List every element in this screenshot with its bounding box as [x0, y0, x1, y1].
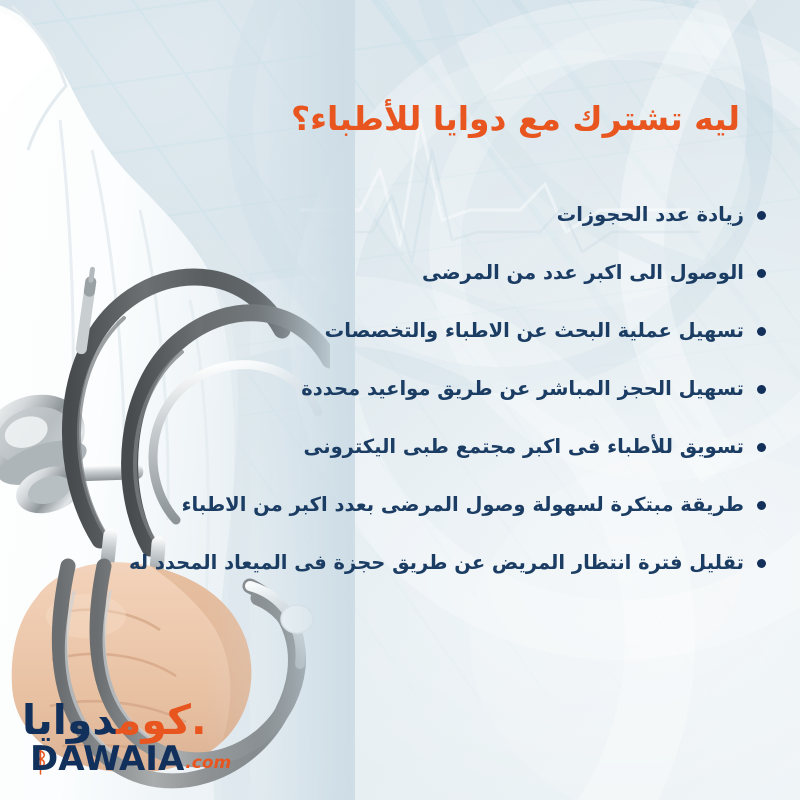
logo-arabic-wordmark: .كومدوايا	[22, 700, 207, 741]
list-item-label: تسهيل الحجز المباشر عن طريق مواعيد محددة	[301, 377, 744, 400]
list-item-label: تسويق للأطباء فى اكبر مجتمع طبى اليكترون…	[304, 435, 744, 458]
bullet-dot-icon	[757, 269, 766, 278]
list-item-label: الوصول الى اكبر عدد من المرضى	[422, 261, 744, 284]
list-item: زيادة عدد الحجوزات	[0, 186, 800, 244]
list-item-label: طريقة مبتكرة لسهولة وصول المرضى بعدد اكب…	[182, 493, 744, 516]
bullet-dot-icon	[757, 385, 766, 394]
list-item-label: تقليل فترة انتظار المريض عن طريق حجزة فى…	[129, 551, 744, 574]
logo-latin-d: D	[30, 739, 58, 779]
list-item: طريقة مبتكرة لسهولة وصول المرضى بعدد اكب…	[0, 476, 800, 534]
logo-arabic-name: دوايا	[22, 696, 116, 744]
logo-latin-main: AWAIA	[58, 739, 184, 779]
page-title: ليه تشترك مع دوايا للأطباء؟	[20, 98, 760, 139]
promo-poster: ليه تشترك مع دوايا للأطباء؟ زيادة عدد ال…	[0, 0, 800, 800]
list-item: تسويق للأطباء فى اكبر مجتمع طبى اليكترون…	[0, 418, 800, 476]
logo-latin-domain: .com	[185, 753, 231, 773]
benefits-list: زيادة عدد الحجوزات الوصول الى اكبر عدد م…	[0, 186, 800, 592]
brand-logo[interactable]: .كومدوايا DAWAIA.com	[16, 700, 256, 788]
bullet-dot-icon	[757, 327, 766, 336]
bullet-dot-icon	[757, 501, 766, 510]
bullet-dot-icon	[757, 559, 766, 568]
poster-content: ليه تشترك مع دوايا للأطباء؟ زيادة عدد ال…	[0, 0, 800, 800]
list-item-label: تسهيل عملية البحث عن الاطباء والتخصصات	[325, 319, 744, 342]
list-item: الوصول الى اكبر عدد من المرضى	[0, 244, 800, 302]
bullet-dot-icon	[757, 443, 766, 452]
logo-arabic-com: .كوم	[116, 696, 207, 744]
bullet-dot-icon	[757, 211, 766, 220]
list-item: تسهيل عملية البحث عن الاطباء والتخصصات	[0, 302, 800, 360]
list-item: تسهيل الحجز المباشر عن طريق مواعيد محددة	[0, 360, 800, 418]
list-item-label: زيادة عدد الحجوزات	[557, 203, 744, 226]
logo-latin-wordmark: DAWAIA.com	[30, 742, 231, 776]
list-item: تقليل فترة انتظار المريض عن طريق حجزة فى…	[0, 534, 800, 592]
